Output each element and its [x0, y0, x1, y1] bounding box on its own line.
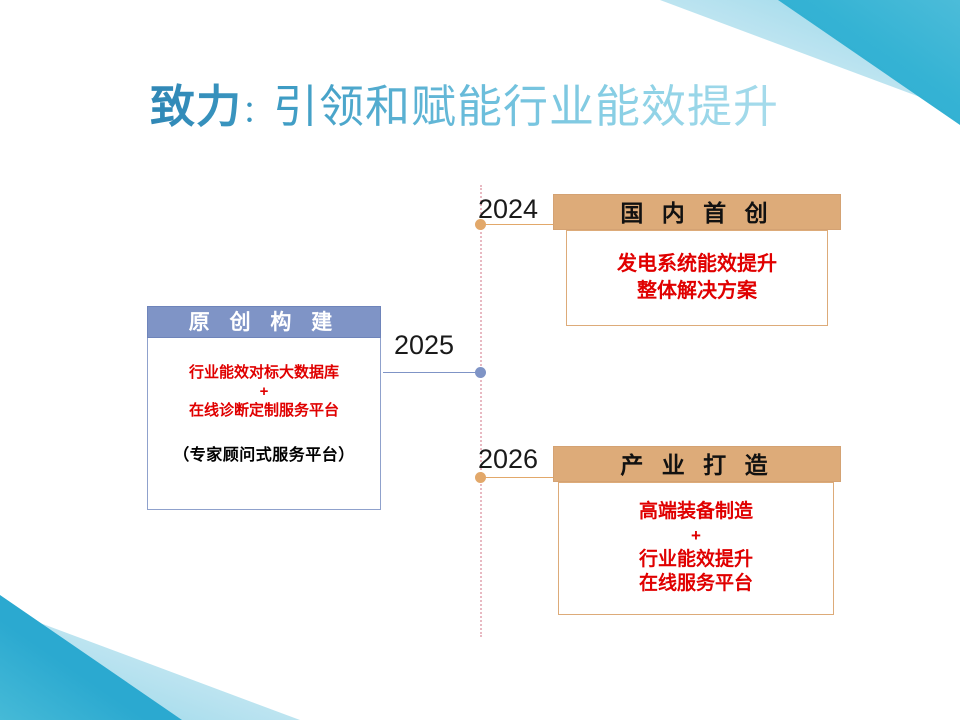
- connector-2026: [481, 477, 553, 478]
- slide-canvas: 致力：引领和赋能行业能效提升 2024 2025 2026 原 创 构 建 行业…: [0, 0, 960, 720]
- card-origin-line-3: （专家顾问式服务平台）: [173, 441, 355, 465]
- year-label-2026: 2026: [478, 444, 538, 475]
- page-title: 致力：引领和赋能行业能效提升: [150, 70, 779, 135]
- card-industry-build-line-2: 行业能效提升: [639, 548, 753, 573]
- title-rest: 引领和赋能行业能效提升: [273, 80, 779, 133]
- connector-2025: [383, 372, 481, 373]
- card-industry-build-line-3: 在线服务平台: [639, 572, 753, 597]
- card-national-first-line-1: 发电系统能效提升: [617, 251, 777, 278]
- card-national-first-line-2: 整体解决方案: [637, 278, 757, 305]
- card-origin-line-1: 行业能效对标大数据库: [189, 362, 339, 384]
- bottom-left-decoration-icon: [0, 595, 300, 720]
- card-origin-plus: +: [260, 384, 269, 401]
- year-label-2025: 2025: [394, 330, 454, 361]
- card-origin-line-2: 在线诊断定制服务平台: [189, 400, 339, 422]
- card-industry-build-plus: +: [691, 525, 701, 548]
- card-origin-header: 原 创 构 建: [147, 306, 381, 338]
- card-industry-build-line-1: 高端装备制造: [639, 500, 753, 525]
- card-national-first-header: 国 内 首 创: [553, 194, 841, 230]
- card-industry-build: 产 业 打 造 高端装备制造 + 行业能效提升 在线服务平台: [553, 446, 841, 615]
- year-label-2024: 2024: [478, 194, 538, 225]
- card-industry-build-body: 高端装备制造 + 行业能效提升 在线服务平台: [558, 482, 834, 615]
- card-national-first-body: 发电系统能效提升 整体解决方案: [566, 230, 828, 326]
- card-industry-build-header: 产 业 打 造: [553, 446, 841, 482]
- title-colon: ：: [242, 95, 273, 130]
- card-origin-body: 行业能效对标大数据库 + 在线诊断定制服务平台 （专家顾问式服务平台）: [147, 338, 381, 510]
- timeline-axis: [480, 185, 482, 637]
- card-origin: 原 创 构 建 行业能效对标大数据库 + 在线诊断定制服务平台 （专家顾问式服务…: [147, 306, 381, 510]
- card-national-first: 国 内 首 创 发电系统能效提升 整体解决方案: [553, 194, 841, 326]
- title-lead: 致力: [150, 80, 242, 133]
